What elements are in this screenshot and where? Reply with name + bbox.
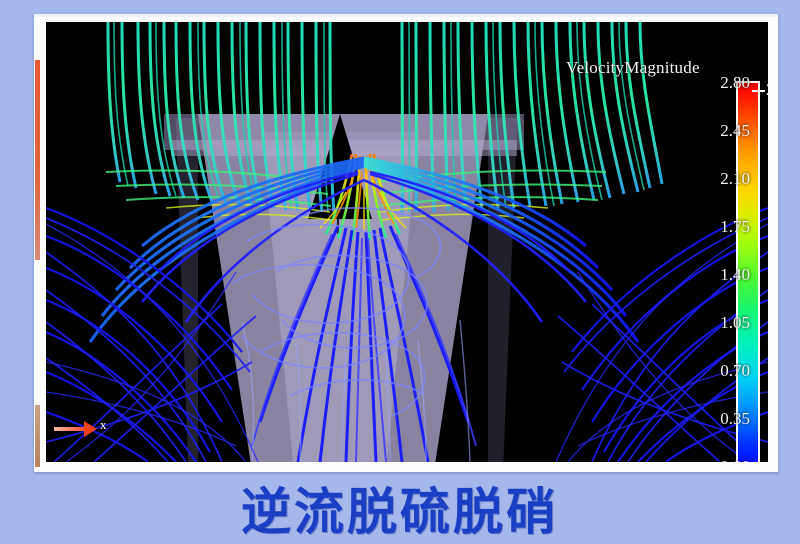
page-title: 逆流脱硫脱硝 bbox=[0, 474, 800, 542]
streamline-field bbox=[46, 22, 768, 462]
x-axis-arrow-head-icon bbox=[84, 421, 97, 437]
x-axis-arrow-shaft bbox=[54, 427, 86, 431]
color-max-tickmark bbox=[752, 90, 765, 92]
color-tick-6: 0.70 bbox=[680, 361, 750, 381]
color-tick-1: 2.45 bbox=[680, 121, 750, 141]
x-axis-label: x bbox=[100, 417, 107, 433]
color-tick-5: 1.05 bbox=[680, 313, 750, 333]
frame-left-tan-stripe bbox=[35, 405, 40, 467]
color-tick-4: 1.40 bbox=[680, 265, 750, 285]
cfd-render-viewport[interactable]: VelocityMagnitude 2.80 2.45 2.10 1.75 1.… bbox=[46, 22, 768, 462]
color-tick-8: 0.00 bbox=[680, 457, 750, 462]
axis-orientation-widget: x bbox=[54, 418, 118, 440]
color-tick-7: 0.35 bbox=[680, 409, 750, 429]
color-tick-2: 2.10 bbox=[680, 169, 750, 189]
screenshot-root: VelocityMagnitude 2.80 2.45 2.10 1.75 1.… bbox=[0, 0, 800, 542]
frame-top-edge bbox=[34, 14, 778, 17]
color-tick-0: 2.80 bbox=[680, 73, 750, 93]
color-max-label: 2.74 bbox=[766, 80, 768, 100]
color-legend: VelocityMagnitude 2.80 2.45 2.10 1.75 1.… bbox=[690, 58, 768, 462]
color-tick-3: 1.75 bbox=[680, 217, 750, 237]
frame-left-red-stripe bbox=[35, 60, 40, 260]
